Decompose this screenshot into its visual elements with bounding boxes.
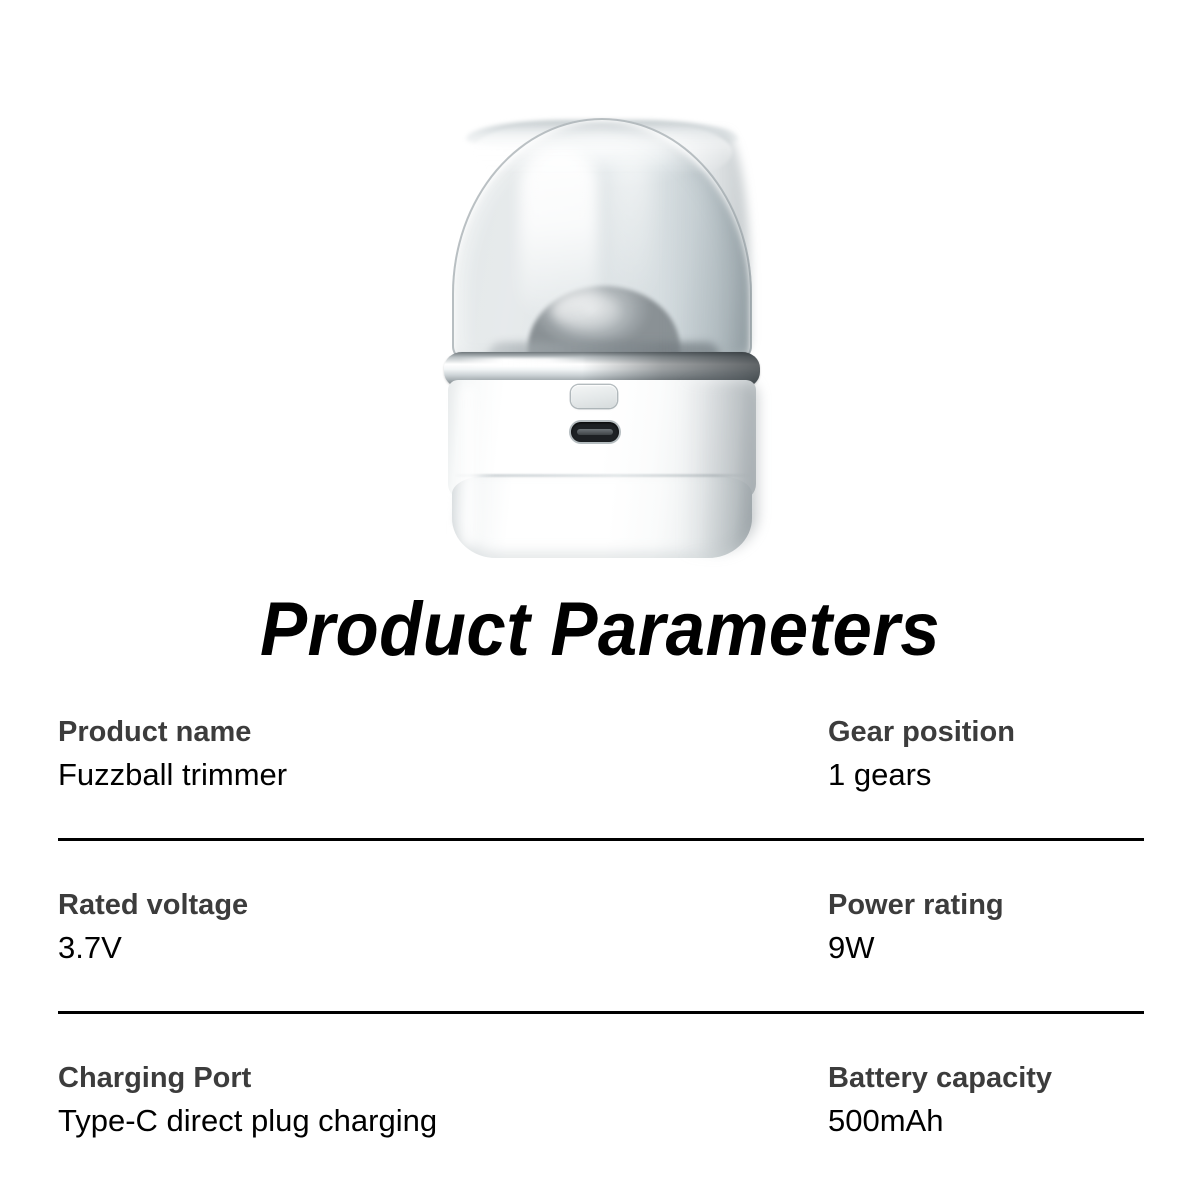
usb-c-port-tongue bbox=[577, 429, 613, 435]
spec-value: 9W bbox=[828, 925, 1144, 971]
spec-label: Charging Port bbox=[58, 1058, 818, 1098]
table-row: Charging Port Type-C direct plug chargin… bbox=[58, 1058, 1144, 1144]
spec-label: Power rating bbox=[828, 885, 1144, 925]
spec-cell-rated-voltage: Rated voltage 3.7V bbox=[58, 885, 828, 971]
row-spacer bbox=[58, 971, 1144, 1011]
table-row: Product name Fuzzball trimmer Gear posit… bbox=[58, 712, 1144, 798]
spec-label: Gear position bbox=[828, 712, 1144, 752]
row-spacer bbox=[58, 1014, 1144, 1058]
row-spacer bbox=[58, 841, 1144, 885]
spec-label: Product name bbox=[58, 712, 818, 752]
spec-cell-power-rating: Power rating 9W bbox=[828, 885, 1144, 971]
spec-value: 3.7V bbox=[58, 925, 818, 971]
spec-cell-gear-position: Gear position 1 gears bbox=[828, 712, 1144, 798]
product-image bbox=[0, 0, 1200, 600]
spec-value: 1 gears bbox=[828, 752, 1144, 798]
table-row: Rated voltage 3.7V Power rating 9W bbox=[58, 885, 1144, 971]
spec-value: Type-C direct plug charging bbox=[58, 1098, 818, 1144]
spec-label: Battery capacity bbox=[828, 1058, 1144, 1098]
spec-label: Rated voltage bbox=[58, 885, 818, 925]
power-button bbox=[571, 385, 617, 408]
device-body-shading bbox=[682, 382, 758, 554]
fuzzball-trimmer-device bbox=[432, 118, 772, 538]
chrome-ring-highlight bbox=[458, 358, 588, 367]
row-spacer bbox=[58, 798, 1144, 838]
device-body-highlight bbox=[456, 386, 482, 546]
page-title: Product Parameters bbox=[42, 588, 1158, 672]
spec-cell-charging-port: Charging Port Type-C direct plug chargin… bbox=[58, 1058, 828, 1144]
spec-cell-battery-capacity: Battery capacity 500mAh bbox=[828, 1058, 1144, 1144]
spec-cell-product-name: Product name Fuzzball trimmer bbox=[58, 712, 828, 798]
spec-value: Fuzzball trimmer bbox=[58, 752, 818, 798]
product-parameters-table: Product name Fuzzball trimmer Gear posit… bbox=[58, 712, 1144, 1144]
spec-value: 500mAh bbox=[828, 1098, 1144, 1144]
